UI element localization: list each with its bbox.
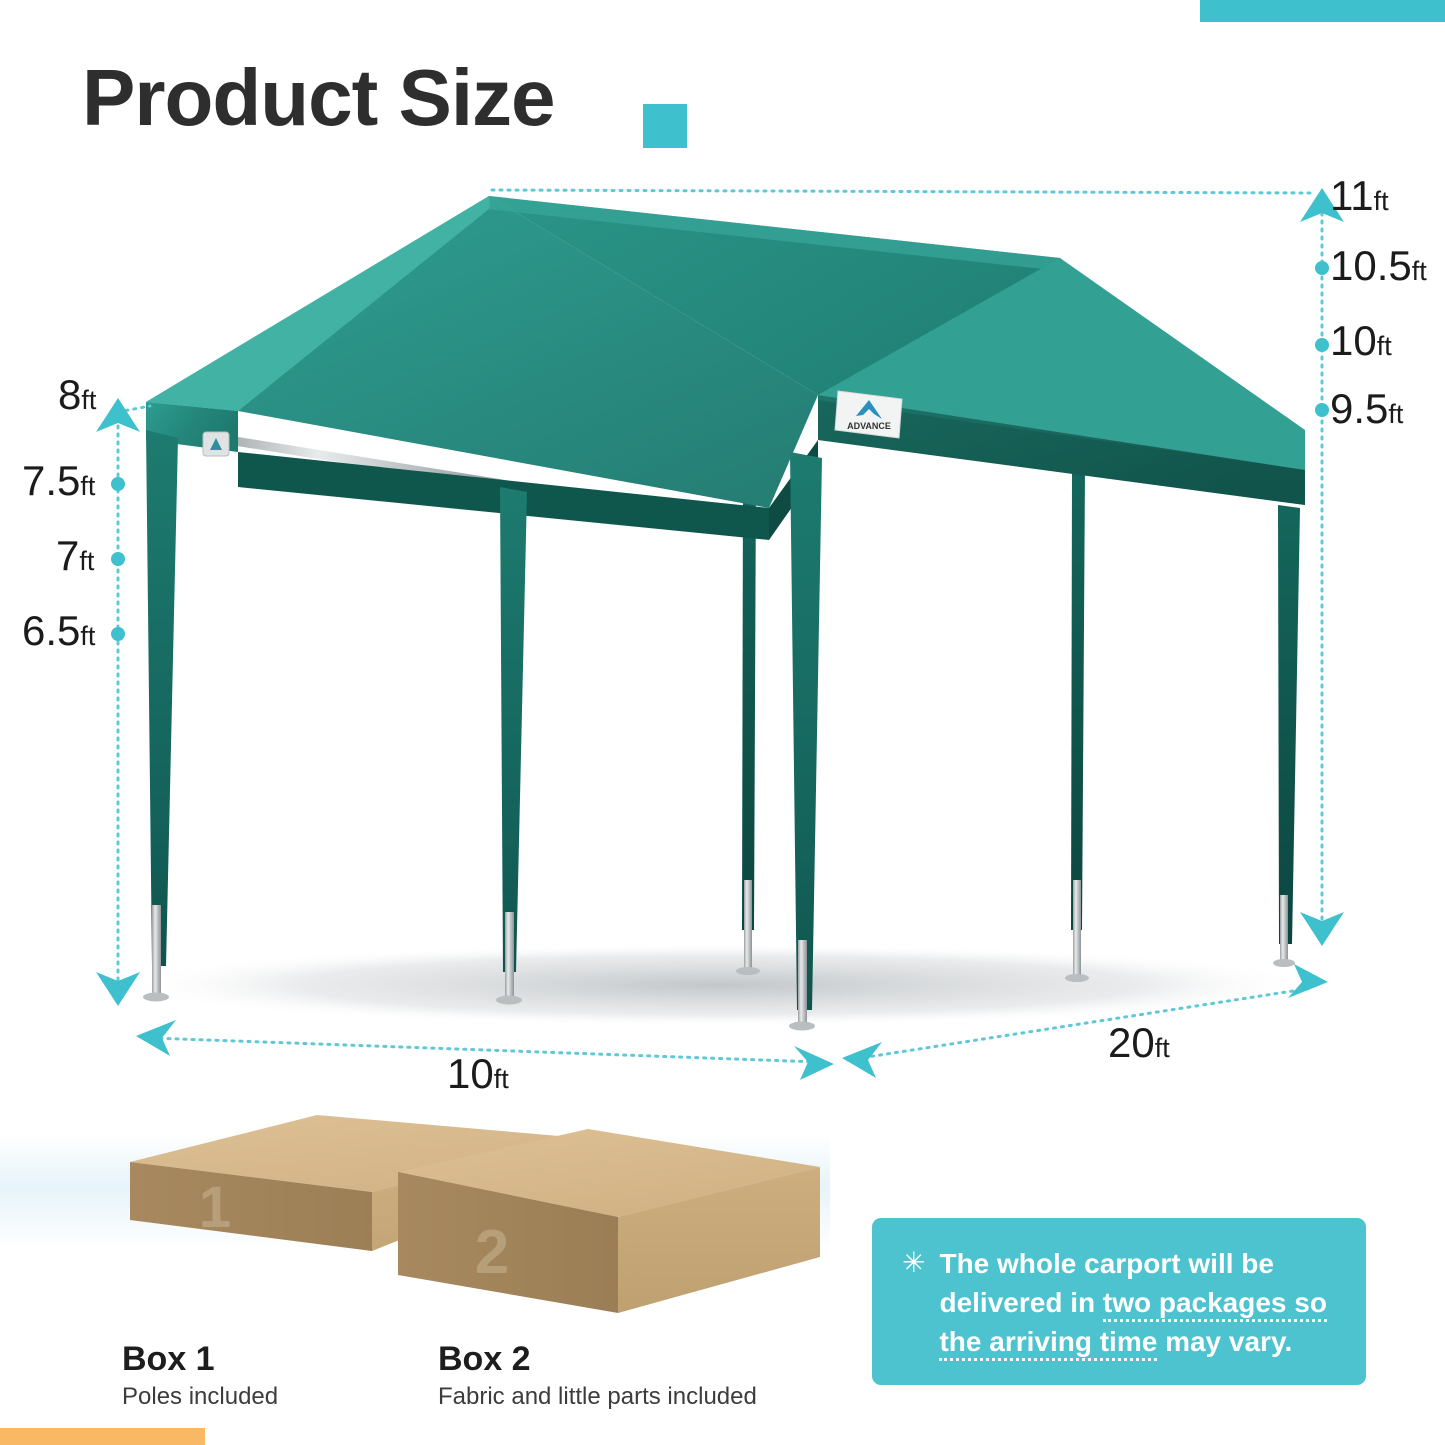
unit-suffix: ft [1377,331,1392,361]
box-1-title: Box 1 [122,1338,278,1381]
infographic-canvas: Product Size [0,0,1445,1445]
guide-length-baseline [848,988,1312,1060]
height-right-value-2: 10 [1330,317,1377,364]
unit-suffix: ft [1374,186,1389,216]
length-value: 20 [1108,1019,1155,1066]
box-1-subtitle: Poles included [122,1381,278,1412]
arrow-width-right [794,1046,834,1080]
height-right-value-1: 10.5 [1330,242,1412,289]
dimension-guides [0,0,1445,1120]
arrow-length-right [1288,964,1328,998]
height-left-value-2: 7 [56,532,79,579]
note-line-3a: the arriving time [939,1326,1157,1361]
package-boxes-illustration: 1 2 [120,1105,820,1345]
height-label-left-2: 7ft [56,535,94,577]
note-line-1: The whole carport will be [939,1248,1274,1279]
unit-suffix: ft [494,1064,509,1094]
height-label-right-0: 11ft [1330,175,1389,217]
height-label-right-3: 9.5ft [1330,388,1403,430]
box-2-subtitle: Fabric and little parts included [438,1381,757,1412]
height-left-value-0: 8 [58,371,81,418]
svg-text:1: 1 [199,1175,231,1240]
unit-suffix: ft [1155,1033,1170,1063]
width-label: 10ft [447,1053,509,1095]
height-label-left-0: 8ft [58,374,96,416]
svg-text:2: 2 [475,1218,509,1287]
height-label-left-3: 6.5ft [22,610,95,652]
arrow-length-left [842,1042,882,1078]
delivery-note-text: The whole carport will be delivered in t… [939,1244,1327,1362]
height-right-value-0: 11 [1330,172,1374,219]
unit-suffix: ft [1388,399,1403,429]
asterisk-icon: ✳ [902,1244,925,1362]
note-line-2a: delivered in [939,1287,1102,1318]
height-right-value-3: 9.5 [1330,385,1388,432]
height-label-right-1: 10.5ft [1330,245,1427,287]
unit-suffix: ft [81,385,96,415]
unit-suffix: ft [80,621,95,651]
bottom-accent-bar [0,1428,205,1445]
height-left-value-1: 7.5 [22,457,80,504]
box-1-caption: Box 1 Poles included [122,1338,278,1412]
unit-suffix: ft [1412,256,1427,286]
width-value: 10 [447,1050,494,1097]
box-2-title: Box 2 [438,1338,757,1381]
note-line-3b: may vary. [1157,1326,1292,1357]
left-axis-ticks [111,477,125,641]
length-label: 20ft [1108,1022,1170,1064]
note-line-2b: two packages so [1103,1287,1327,1322]
height-label-right-2: 10ft [1330,320,1392,362]
height-left-value-3: 6.5 [22,607,80,654]
unit-suffix: ft [79,546,94,576]
box-2-caption: Box 2 Fabric and little parts included [438,1338,757,1412]
delivery-note-panel: ✳ The whole carport will be delivered in… [872,1218,1366,1385]
height-label-left-1: 7.5ft [22,460,95,502]
guide-top-horizontal [492,190,1312,193]
unit-suffix: ft [80,471,95,501]
